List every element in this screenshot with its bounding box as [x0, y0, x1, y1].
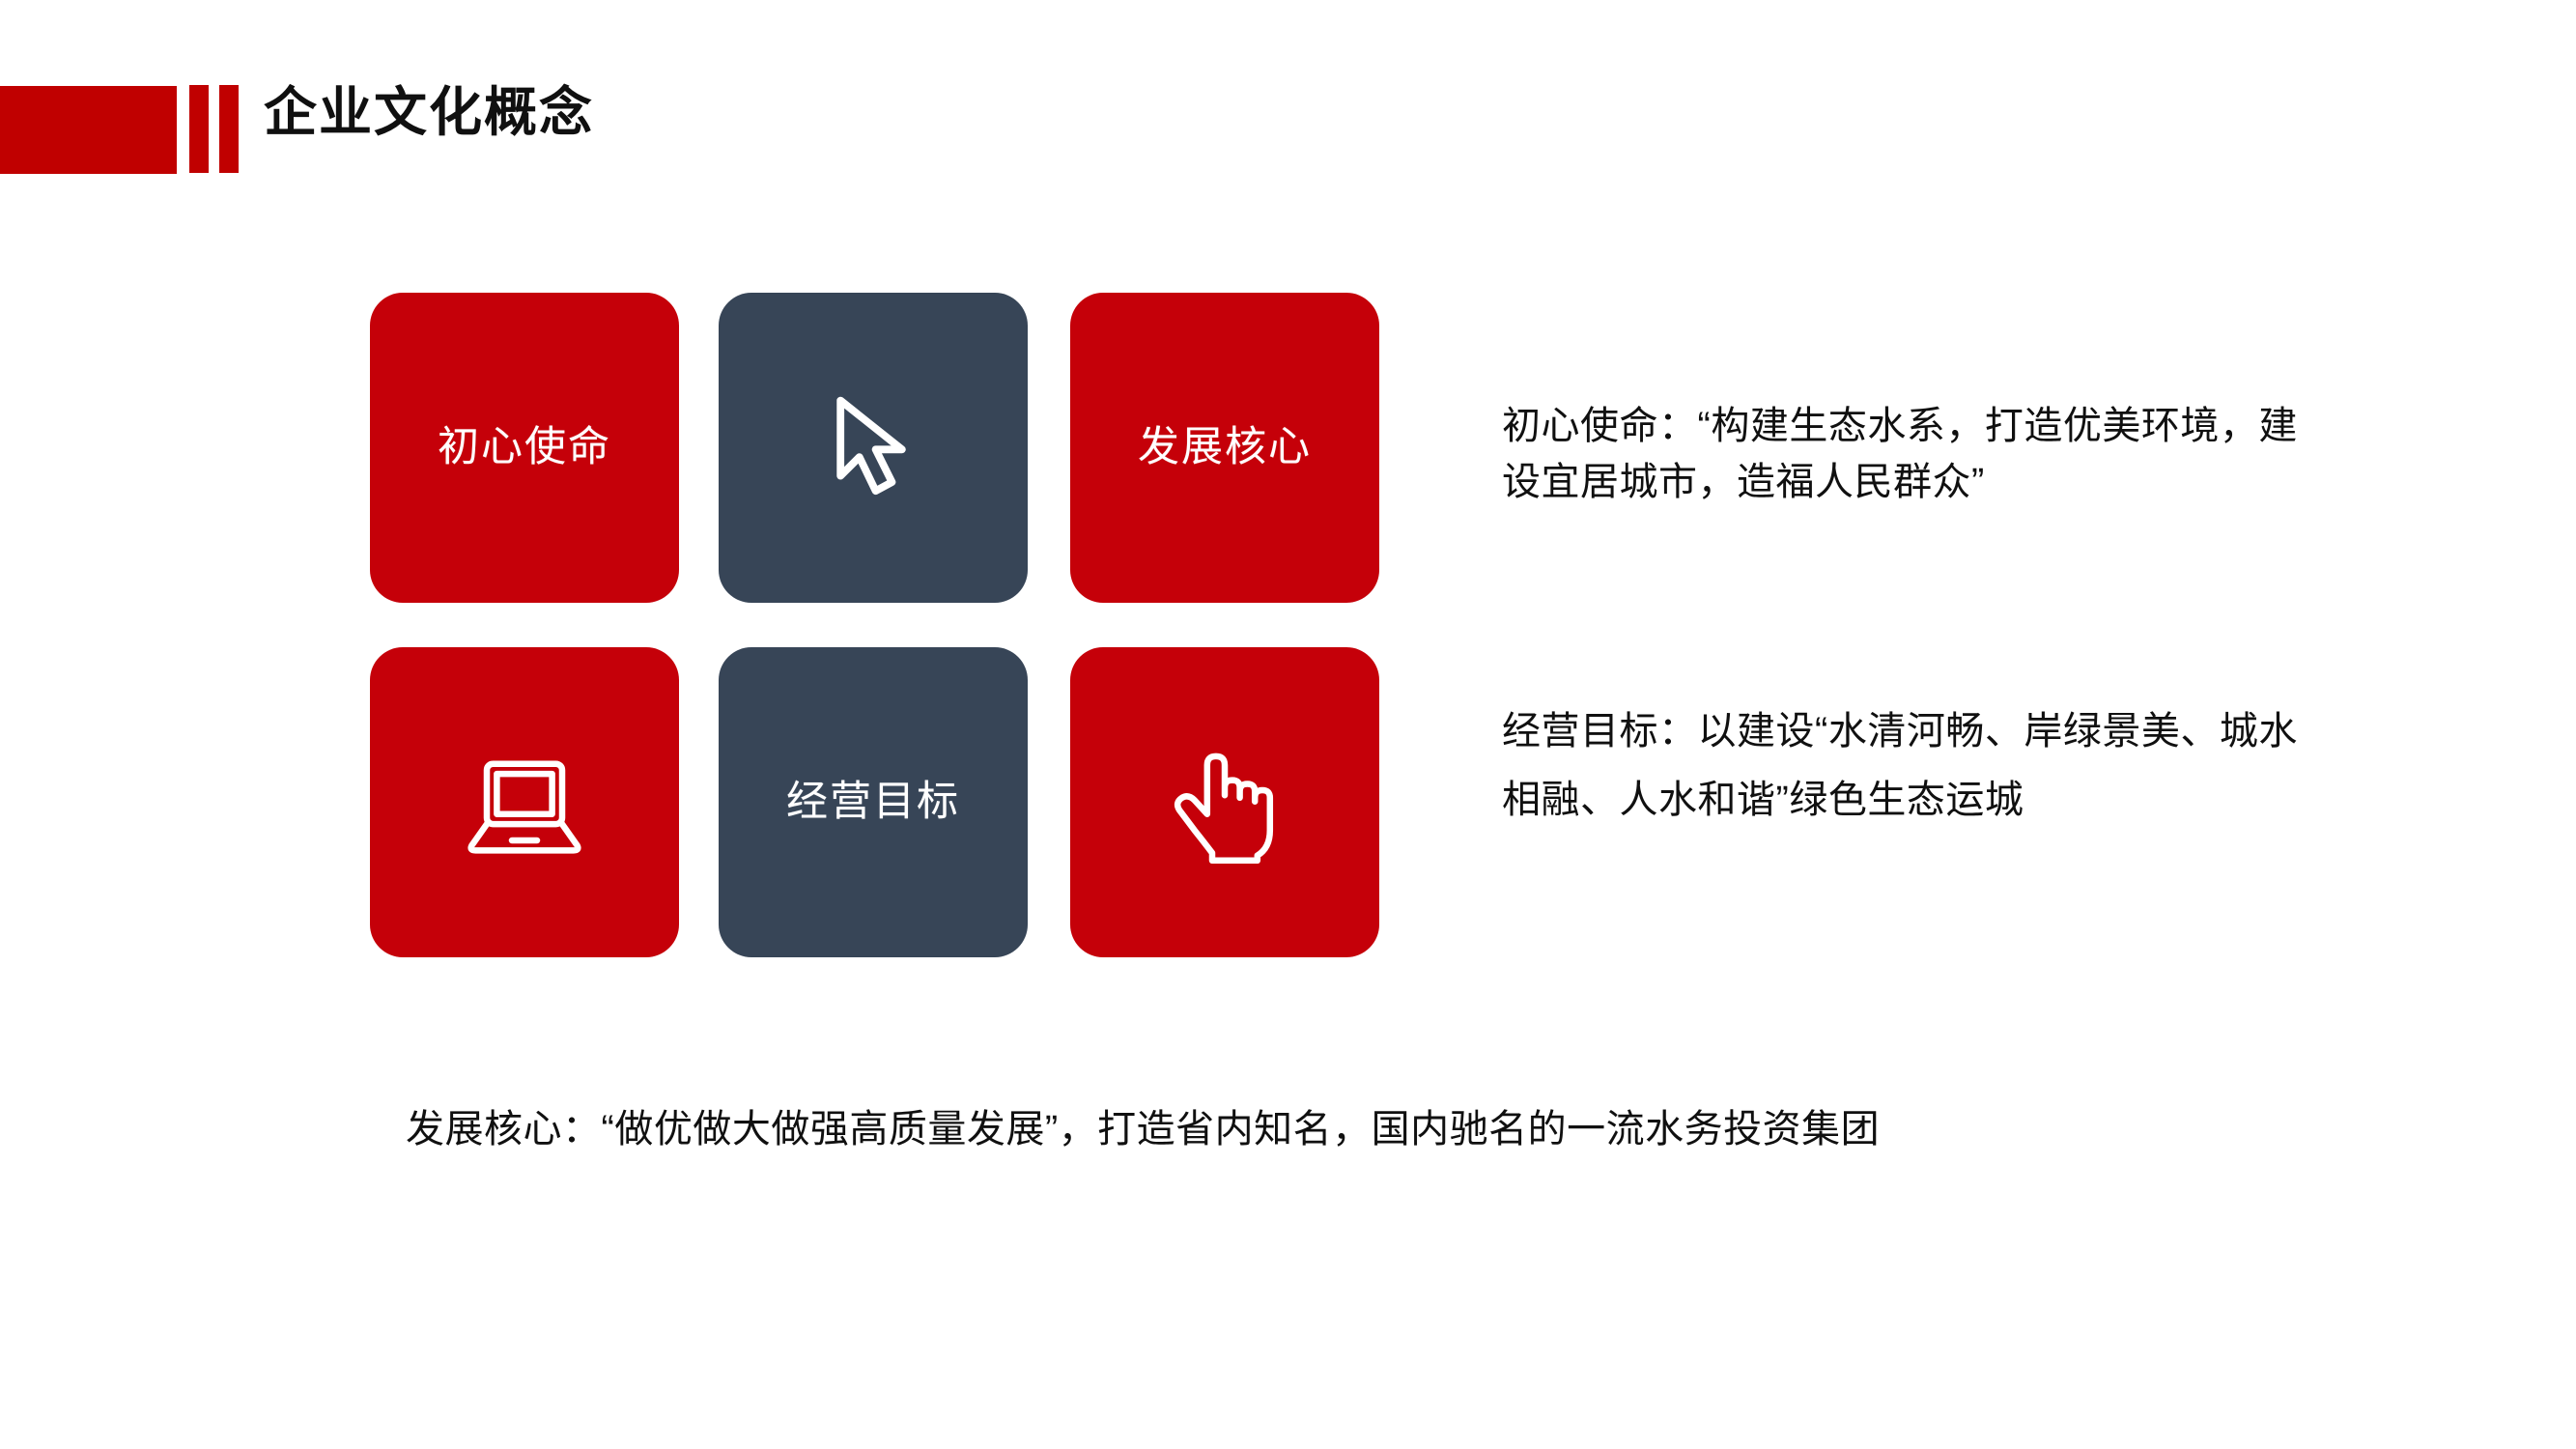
tile-label-goal: 经营目标	[786, 778, 960, 828]
laptop-icon	[462, 740, 587, 866]
paragraph-goal: 经营目标：以建设“水清河畅、岸绿景美、城水相融、人水和谐”绿色生态运城	[1502, 697, 2304, 835]
paragraph-core: 发展核心：“做优做大做强高质量发展”，打造省内知名，国内驰名的一流水务投资集团	[406, 1094, 2260, 1164]
culture-tile-grid: 初心使命 发展核心 经营目标	[370, 293, 1380, 993]
tile-cursor[interactable]	[719, 293, 1028, 603]
tile-hand[interactable]	[1070, 647, 1379, 957]
header-accent-bar-2	[219, 85, 239, 173]
tile-mission[interactable]: 初心使命	[370, 293, 679, 603]
cursor-arrow-icon	[810, 385, 936, 511]
hand-pointer-icon	[1162, 740, 1288, 866]
header-accent-bar-1	[189, 85, 209, 173]
tile-label-mission: 初心使命	[438, 423, 611, 473]
tile-core[interactable]: 发展核心	[1070, 293, 1379, 603]
tile-goal[interactable]: 经营目标	[719, 647, 1028, 957]
paragraph-mission: 初心使命：“构建生态水系，打造优美环境，建设宜居城市，造福人民群众”	[1502, 398, 2304, 511]
page-title: 企业文化概念	[264, 82, 594, 143]
tile-laptop[interactable]	[370, 647, 679, 957]
tile-label-core: 发展核心	[1138, 423, 1312, 473]
slide-header: 企业文化概念	[0, 0, 2576, 222]
header-red-block	[0, 86, 177, 174]
